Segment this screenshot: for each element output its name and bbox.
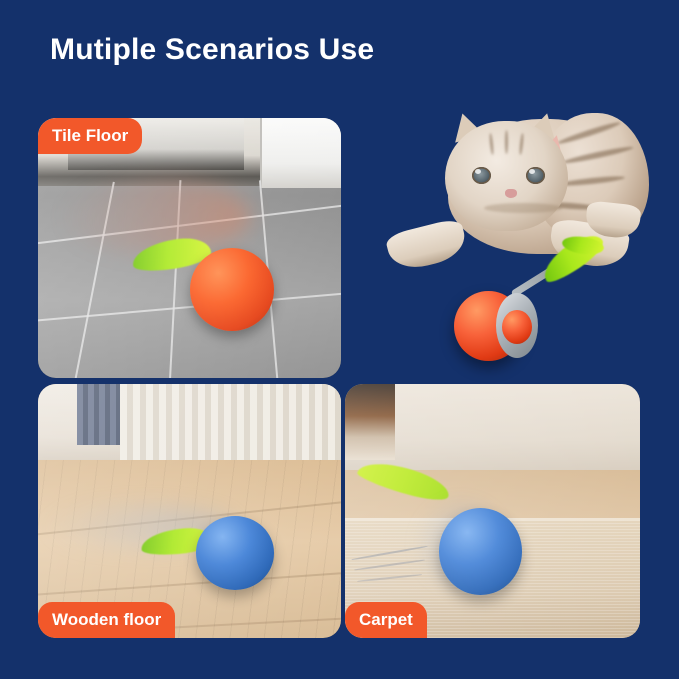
- toy-ball-orange: [190, 248, 275, 331]
- carpet-background-object: [345, 384, 395, 460]
- toy-ball-blue: [196, 516, 275, 590]
- wooden-floor-photo: [38, 384, 341, 638]
- hero-cat-with-toy: [370, 96, 670, 378]
- curtain-light: [120, 384, 341, 460]
- scenario-badge-carpet: Carpet: [345, 602, 427, 638]
- cat-eye-left: [472, 167, 491, 184]
- motion-blur-trail: [62, 180, 250, 253]
- scenario-card-carpet[interactable]: Carpet: [345, 384, 640, 638]
- scenario-card-wooden-floor[interactable]: Wooden floor: [38, 384, 341, 638]
- page-title: Mutiple Scenarios Use: [50, 33, 374, 67]
- toy-ball-blue: [439, 508, 522, 594]
- scenario-badge-tile-floor: Tile Floor: [38, 118, 142, 154]
- tile-white-cabinet: [260, 118, 341, 188]
- product-infographic-page: Mutiple Scenarios Use Tile Floor: [0, 0, 679, 679]
- tile-floor-photo: [38, 118, 341, 378]
- cat-nose: [505, 189, 517, 198]
- cat-paw-left: [384, 217, 469, 274]
- scenario-card-tile-floor[interactable]: Tile Floor: [38, 118, 341, 378]
- carpet-photo: [345, 384, 640, 638]
- cat-forehead-stripe: [505, 130, 508, 154]
- scenario-badge-wooden-floor: Wooden floor: [38, 602, 175, 638]
- curtain-dark: [77, 384, 122, 445]
- toy-ball-inner-face: [502, 310, 532, 344]
- cat-eye-right: [526, 167, 545, 184]
